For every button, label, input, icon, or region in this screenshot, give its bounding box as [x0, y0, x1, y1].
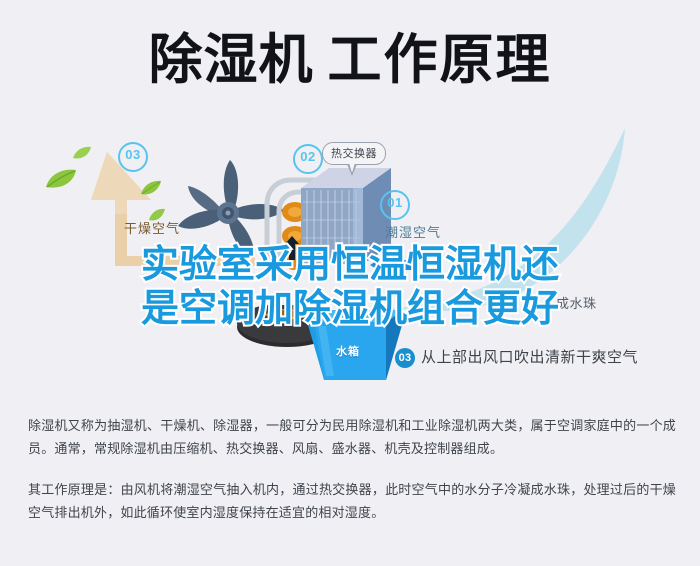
article-body: 除湿机又称为抽湿机、干燥机、除湿器，一般可分为民用除湿机和工业除湿机两大类，属于…	[28, 414, 676, 524]
droplet-label: 成水珠	[556, 293, 597, 312]
page-title: 除湿机工作原理	[0, 28, 700, 92]
title-part-2: 工作原理	[328, 28, 552, 92]
outlet-description-label: 从上部出风口吹出清新干爽空气	[421, 346, 638, 367]
leaf-icon	[140, 180, 162, 196]
title-part-1: 除湿机	[149, 28, 314, 92]
moist-air-swoosh-icon	[385, 126, 635, 311]
heat-exchanger-callout: 热交换器	[322, 142, 386, 165]
leaf-icon	[44, 168, 78, 190]
step-badge-02: 02	[293, 144, 323, 174]
step-badge-03-bottom: 03	[395, 348, 415, 368]
moist-air-label: 潮湿空气	[385, 222, 441, 241]
body-paragraph-1: 除湿机又称为抽湿机、干燥机、除湿器，一般可分为民用除湿机和工业除湿机两大类，属于…	[28, 414, 676, 460]
air-inlet-arrow-icon	[370, 255, 412, 275]
step-badge-01: 01	[380, 190, 410, 220]
body-paragraph-2: 其工作原理是：由风机将潮湿空气抽入机内，通过热交换器，此时空气中的水分子冷凝成水…	[28, 478, 676, 524]
page-root: 除湿机工作原理	[0, 0, 700, 566]
dehumidifier-diagram: 水箱 03 干燥空气 02 热交换器 01 潮湿空气 成水珠 03 从上部出风口…	[0, 120, 700, 390]
leaf-icon	[72, 146, 92, 160]
dry-air-label: 干燥空气	[124, 218, 180, 237]
step-badge-03-top: 03	[118, 142, 148, 172]
water-tank-label: 水箱	[336, 343, 360, 359]
